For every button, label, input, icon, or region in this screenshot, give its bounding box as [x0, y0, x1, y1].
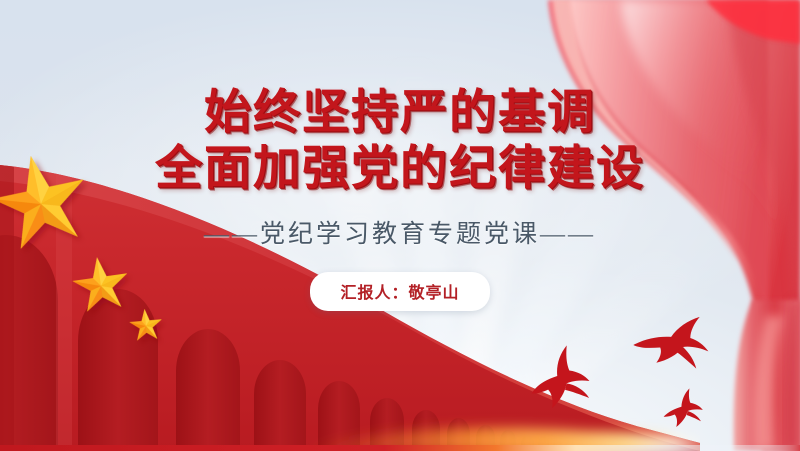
presentation-slide: 始终坚持严的基调 全面加强党的纪律建设 ——党纪学习教育专题党课—— 汇报人：敬… [0, 0, 800, 451]
subtitle: ——党纪学习教育专题党课—— [0, 214, 800, 250]
dove-small [662, 388, 704, 428]
title-line-1: 始终坚持严的基调 [0, 88, 800, 138]
title-line-2: 全面加强党的纪律建设 [0, 144, 800, 194]
dove-left [527, 343, 592, 410]
bottom-red-strip [0, 445, 800, 451]
dove-top [631, 306, 714, 371]
presenter-badge: 汇报人：敬亭山 [310, 272, 489, 311]
title-text-block: 始终坚持严的基调 全面加强党的纪律建设 ——党纪学习教育专题党课—— 汇报人：敬… [0, 88, 800, 311]
presenter-badge-row: 汇报人：敬亭山 [0, 272, 800, 311]
